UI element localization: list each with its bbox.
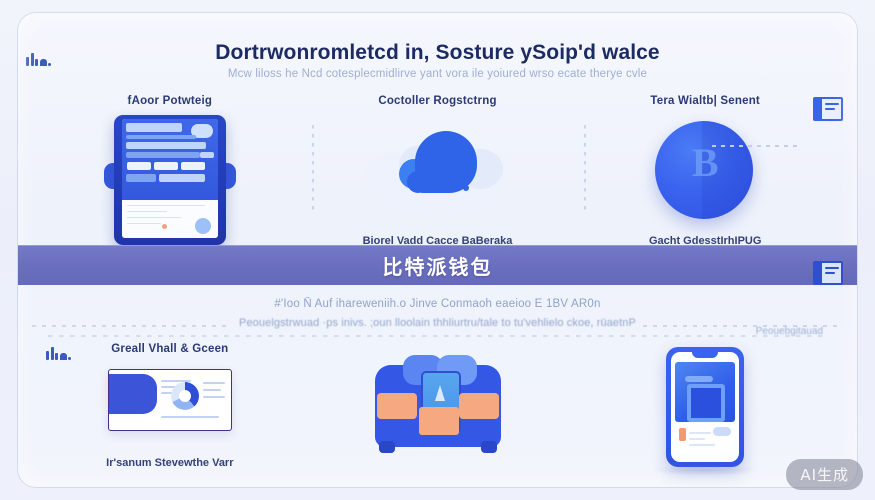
section-divider: [48, 335, 827, 337]
title-banner: 比特派钱包: [18, 245, 857, 285]
feature-label: fAoor Potwteig: [128, 95, 213, 107]
feature-card-cloud[interactable]: Coctoller Rogstctrng Biorel Vadd Cacce B…: [304, 95, 572, 245]
feature-label: Coctoller Rogstctrng: [378, 95, 496, 107]
feature-card-coin[interactable]: Tera Wialtb| Senent B Gacht GdesstIrhIPU…: [571, 95, 839, 245]
chart-card-illustration: [108, 369, 232, 431]
feature-caption: Ir'sanum Stevewthe Varr: [36, 457, 304, 469]
window-card-icon-secondary: [813, 261, 843, 285]
banner-title: 比特派钱包: [383, 251, 493, 280]
page-title: Dortrwonromletcd in, Sosture ySoip'd wal…: [18, 41, 857, 65]
content-card: Dortrwonromletcd in, Sosture ySoip'd wal…: [18, 13, 857, 487]
tablet-mockup-illustration: [114, 115, 226, 245]
mid-text-line-1: #'Ioo Ñ Auf ihareweniih.o Jinve Conmaoh …: [18, 298, 857, 310]
decorative-glyph-icon: [26, 53, 51, 66]
feature-card-person[interactable]: [304, 343, 572, 487]
section-divider-label: Peouebgitauad: [756, 326, 823, 337]
decorative-glyph-icon-bottom: [46, 347, 71, 360]
top-feature-row: fAoor Potwteig: [36, 95, 839, 245]
phone-mockup-illustration: [666, 347, 744, 467]
feature-card-tablet[interactable]: fAoor Potwteig: [36, 95, 304, 245]
bottom-feature-row: Greall Vhall & Gceen Ir'sanum Stevewthe …: [36, 343, 839, 487]
feature-card-chart[interactable]: Greall Vhall & Gceen Ir'sanum Stevewthe …: [36, 343, 304, 487]
coin-illustration: B: [650, 119, 760, 237]
coin-glyph: B: [650, 143, 760, 183]
mid-text-line-2: Peouelgstrwuad ·ps inivs. ;oun lloolain …: [18, 317, 857, 329]
mid-divider-left: [32, 325, 232, 327]
ai-watermark-badge: AI生成: [786, 459, 863, 490]
feature-label: Greall Vhall & Gceen: [111, 343, 228, 355]
feature-label: Tera Wialtb| Senent: [650, 95, 760, 107]
cloud-bubble-illustration: [363, 119, 513, 239]
dotted-connector: [712, 145, 798, 147]
page-subtitle: Mcw liloss he Ncd cotesplecmidlirve yant…: [18, 68, 857, 80]
screenshot-root: Dortrwonromletcd in, Sosture ySoip'd wal…: [0, 0, 875, 500]
person-with-phone-illustration: [363, 351, 513, 461]
